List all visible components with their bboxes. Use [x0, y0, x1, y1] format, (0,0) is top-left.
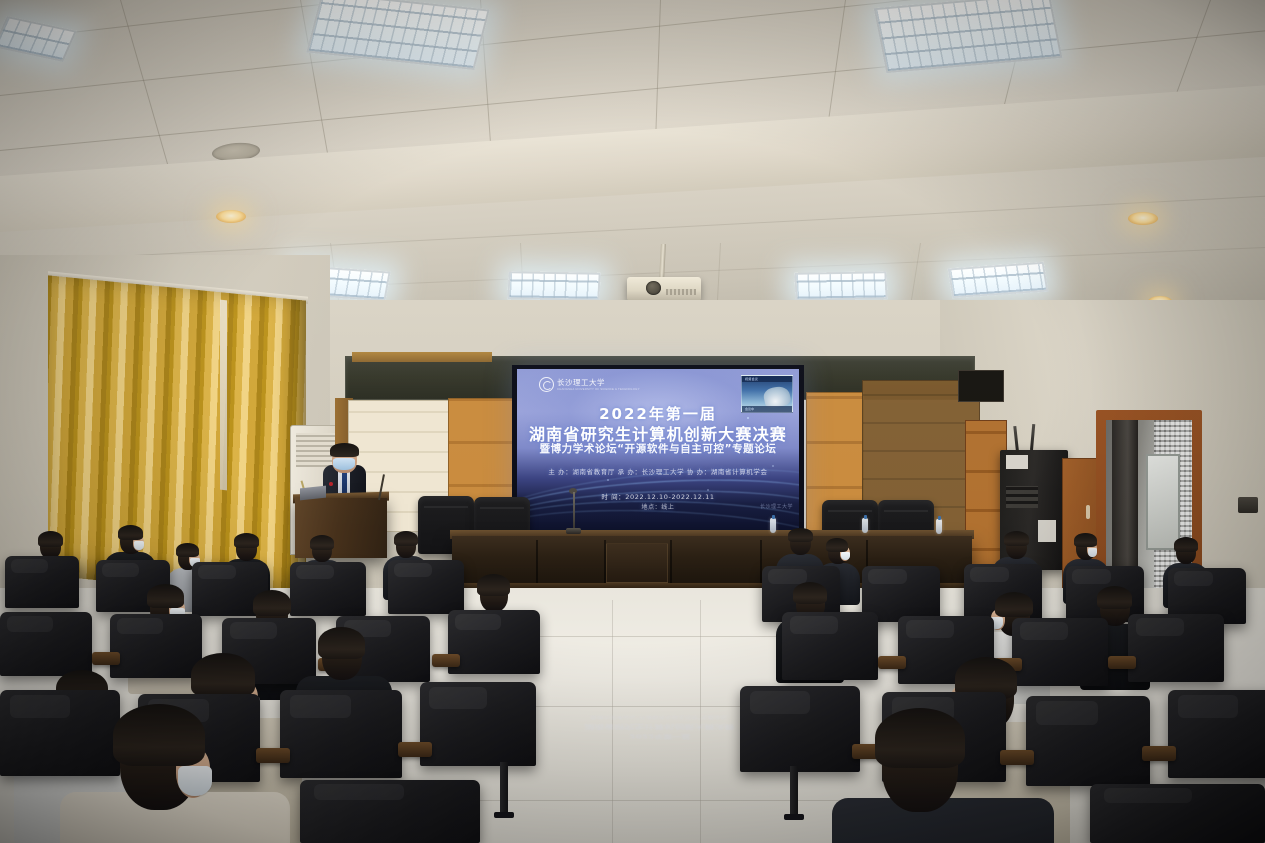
wall-trim: [352, 352, 492, 362]
seat-armrest: [1000, 750, 1034, 765]
attendee-hair: [113, 704, 205, 766]
projection-screen: 长沙理工大学 CHANGSHA UNIVERSITY OF SCIENCE & …: [517, 369, 799, 534]
seat-pedestal: [790, 766, 798, 820]
auditorium-seat[interactable]: [1012, 618, 1108, 686]
attendee-hair: [1097, 586, 1132, 609]
attendee-hair: [310, 535, 334, 550]
auditorium-seat[interactable]: [1026, 696, 1150, 786]
auditorium-seat[interactable]: [1168, 690, 1265, 778]
attendee-hair: [788, 528, 813, 542]
slide-time: 时 间：2022.12.10-2022.12.11: [517, 491, 799, 501]
attendee-hair: [1074, 533, 1097, 547]
attendee-hair: [995, 592, 1033, 617]
auditorium-seat[interactable]: [448, 610, 540, 674]
ceiling-panel-light: [507, 271, 600, 301]
attendee-hair: [147, 584, 184, 608]
exterior-window: [1146, 454, 1180, 550]
dais-panel: [606, 543, 668, 583]
auditorium-seat[interactable]: [280, 690, 402, 778]
attendee-face-mask: [134, 541, 144, 550]
auditorium-seat[interactable]: [1090, 784, 1265, 843]
floor-tile-line: [700, 600, 701, 843]
presenter-hair: [330, 443, 359, 457]
seat-armrest: [1142, 746, 1176, 761]
ceiling-panel-light: [794, 271, 887, 301]
attendee-hair: [191, 653, 255, 697]
attendee-hair: [826, 538, 848, 552]
attendee-hair: [1174, 537, 1198, 552]
podium: [295, 498, 387, 558]
attendee-face-mask: [1088, 548, 1097, 557]
presenter-badge: [329, 482, 333, 486]
seat-pedestal: [500, 762, 508, 818]
attendee-hair: [1004, 531, 1029, 546]
projector-lens-icon: [646, 281, 661, 295]
dais-seam: [536, 540, 538, 586]
auditorium-seat[interactable]: [5, 556, 79, 608]
dais-microphone-base: [566, 528, 581, 534]
floor-tile-line: [612, 600, 613, 843]
attendee-hair: [176, 543, 199, 557]
auditorium-seat[interactable]: [0, 612, 92, 676]
attendee-hair: [875, 708, 965, 768]
seat-base: [494, 812, 514, 818]
warm-downlight: [216, 210, 246, 223]
attendee-hair: [234, 533, 259, 548]
seat-base: [784, 814, 804, 820]
university-logo-name: 长沙理工大学: [557, 379, 640, 387]
water-bottle[interactable]: [770, 518, 776, 533]
rack-front-panel: [1006, 486, 1038, 508]
water-bottle[interactable]: [862, 518, 868, 533]
cabinet-handle[interactable]: [1086, 505, 1090, 519]
rack-label: [1006, 455, 1028, 469]
pip-titlebar: 视频会议: [742, 376, 792, 382]
projector-vent: [666, 289, 696, 295]
university-emblem-icon: [539, 377, 554, 392]
pip-title: 视频会议: [742, 376, 792, 381]
auditorium-seat[interactable]: [388, 560, 464, 614]
seat-armrest: [1108, 656, 1136, 669]
seat-armrest: [398, 742, 432, 757]
attendee-face-mask: [178, 766, 212, 796]
wall-switch[interactable]: [1238, 497, 1258, 513]
rack-label: [1038, 520, 1056, 542]
auditorium-seat[interactable]: [740, 686, 860, 772]
attendee-hair: [118, 525, 143, 540]
warm-downlight: [1128, 212, 1158, 225]
auditorium-seat[interactable]: [300, 780, 480, 843]
attendee-hair: [253, 590, 291, 616]
auditorium-seat[interactable]: [290, 562, 366, 616]
slide-organizers: 主 办：湖南省教育厅 承 办：长沙理工大学 协 办：湖南省计算机学会: [517, 466, 799, 476]
slide-title-line3: 暨博力学术论坛“开源软件与自主可控”专题论坛: [517, 441, 799, 456]
presenter-face-mask: [333, 458, 355, 470]
wall-monitor: [958, 370, 1004, 402]
seat-armrest: [878, 656, 906, 669]
seat-armrest: [92, 652, 120, 665]
auditorium-seat[interactable]: [0, 690, 120, 776]
attendee-hair: [793, 582, 827, 604]
attendee-hair: [38, 531, 63, 547]
attendee-hair: [477, 574, 510, 596]
attendee-hair: [394, 531, 418, 546]
conference-hall-photo: 2022年第一届 长沙理工大学 CHANGSHA U: [0, 0, 1265, 843]
seat-armrest: [432, 654, 460, 667]
university-logo: 长沙理工大学 CHANGSHA UNIVERSITY OF SCIENCE & …: [539, 377, 640, 392]
auditorium-seat[interactable]: [1128, 614, 1224, 682]
auditorium-seat[interactable]: [420, 682, 536, 766]
water-bottle[interactable]: [936, 519, 942, 534]
slide-watermark: 长沙理工大学: [760, 503, 793, 510]
seat-armrest: [256, 748, 290, 763]
curtain-gap: [220, 300, 227, 491]
university-logo-subtitle: CHANGSHA UNIVERSITY OF SCIENCE & TECHNOL…: [557, 387, 640, 391]
auditorium-seat[interactable]: [110, 614, 202, 678]
dais-seam: [670, 540, 672, 586]
attendee-face-mask: [841, 552, 850, 560]
slide-place: 地点：线上: [517, 502, 799, 511]
auditorium-seat[interactable]: [782, 612, 878, 680]
attendee-hair: [318, 627, 365, 659]
